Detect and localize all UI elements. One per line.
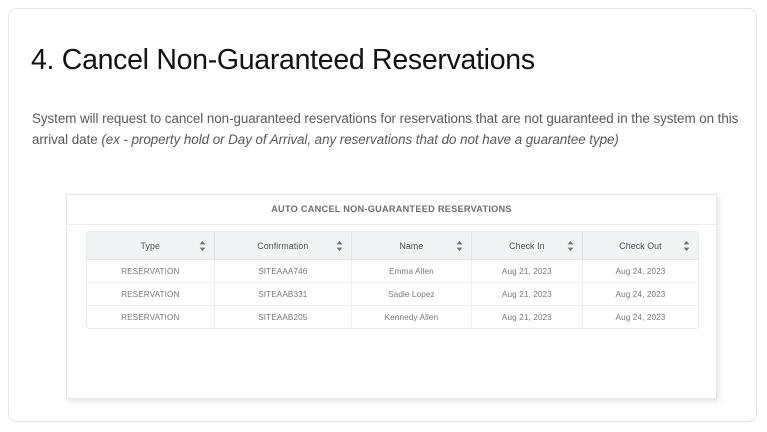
- cell-type: RESERVATION: [87, 283, 214, 306]
- cell-type: RESERVATION: [87, 260, 214, 283]
- page-title: 4. Cancel Non-Guaranteed Reservations: [31, 43, 535, 77]
- description-paragraph: System will request to cancel non-guaran…: [32, 109, 750, 150]
- card-title: AUTO CANCEL NON-GUARANTEED RESERVATIONS: [67, 204, 716, 214]
- cell-name: Sadie Lopez: [352, 283, 472, 306]
- cell-name: Emma Allen: [352, 260, 472, 283]
- sort-icon[interactable]: [567, 240, 574, 251]
- cell-confirmation: SITEAAB205: [214, 306, 351, 329]
- reservations-table: Type Confirmation: [87, 232, 698, 328]
- table-header-row: Type Confirmation: [87, 232, 698, 260]
- table-row[interactable]: RESERVATION SITEAAB331 Sadie Lopez Aug 2…: [87, 283, 698, 306]
- column-header-label: Name: [360, 241, 463, 251]
- sort-icon[interactable]: [336, 240, 343, 251]
- column-header-check-out[interactable]: Check Out: [582, 232, 698, 260]
- table-row[interactable]: RESERVATION SITEAAB205 Kennedy Allen Aug…: [87, 306, 698, 329]
- cell-check-out: Aug 24, 2023: [582, 283, 698, 306]
- cell-check-out: Aug 24, 2023: [582, 260, 698, 283]
- cell-type: RESERVATION: [87, 306, 214, 329]
- description-italic-text: (ex - property hold or Day of Arrival, a…: [101, 132, 619, 147]
- column-header-check-in[interactable]: Check In: [471, 232, 582, 260]
- reservations-table-container: Type Confirmation: [86, 231, 699, 329]
- column-header-label: Type: [95, 241, 206, 251]
- cell-check-out: Aug 24, 2023: [582, 306, 698, 329]
- sort-icon[interactable]: [199, 240, 206, 251]
- cell-confirmation: SITEAAA746: [214, 260, 351, 283]
- column-header-confirmation[interactable]: Confirmation: [214, 232, 351, 260]
- column-header-label: Check In: [480, 241, 574, 251]
- sort-icon[interactable]: [456, 240, 463, 251]
- sort-icon[interactable]: [683, 240, 690, 251]
- table-body: RESERVATION SITEAAA746 Emma Allen Aug 21…: [87, 260, 698, 329]
- slide-frame: 4. Cancel Non-Guaranteed Reservations Sy…: [8, 8, 757, 422]
- column-header-label: Confirmation: [223, 241, 343, 251]
- column-header-type[interactable]: Type: [87, 232, 214, 260]
- table-row[interactable]: RESERVATION SITEAAA746 Emma Allen Aug 21…: [87, 260, 698, 283]
- reservations-card: AUTO CANCEL NON-GUARANTEED RESERVATIONS …: [66, 194, 717, 399]
- column-header-label: Check Out: [591, 241, 690, 251]
- cell-name: Kennedy Allen: [352, 306, 472, 329]
- cell-check-in: Aug 21, 2023: [471, 260, 582, 283]
- cell-check-in: Aug 21, 2023: [471, 306, 582, 329]
- table-header: Type Confirmation: [87, 232, 698, 260]
- column-header-name[interactable]: Name: [352, 232, 472, 260]
- cell-confirmation: SITEAAB331: [214, 283, 351, 306]
- cell-check-in: Aug 21, 2023: [471, 283, 582, 306]
- card-title-divider: [67, 224, 716, 225]
